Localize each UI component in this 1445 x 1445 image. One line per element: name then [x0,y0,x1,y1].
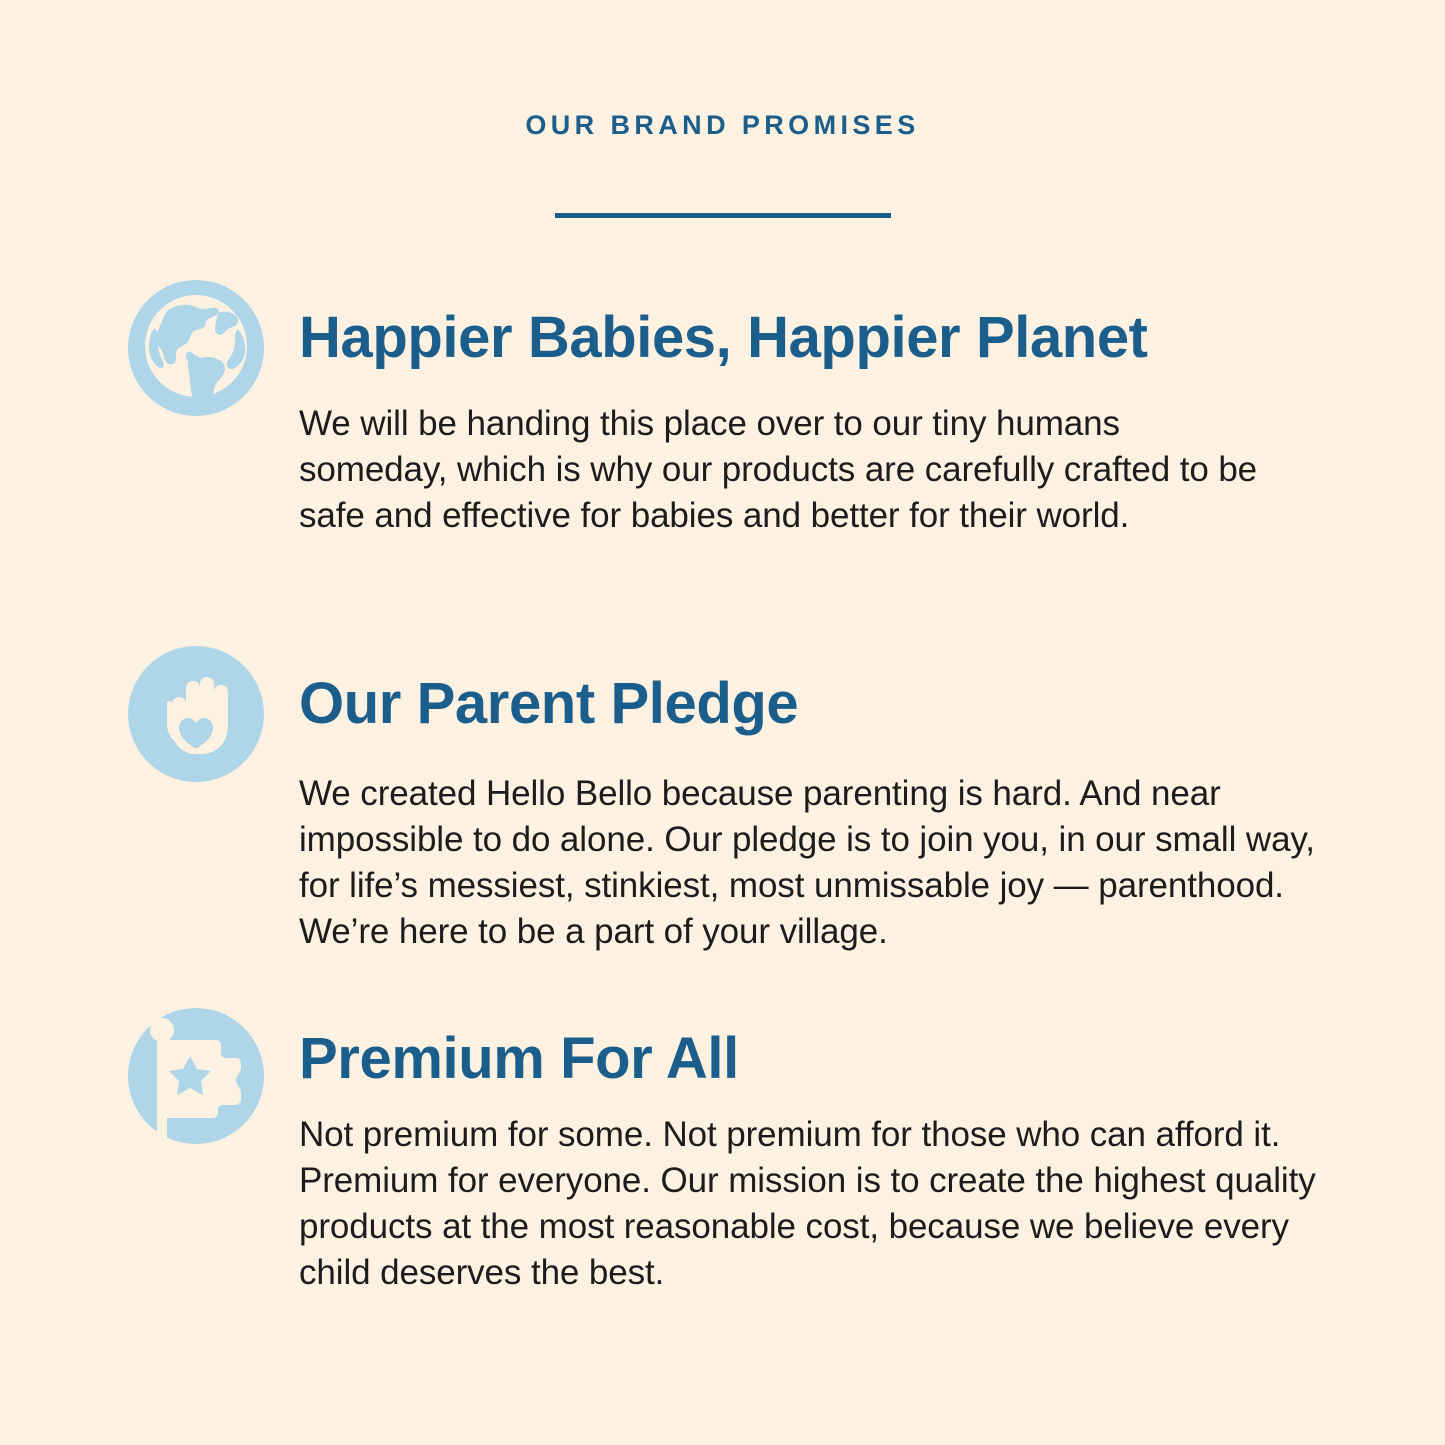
globe-icon [128,280,264,416]
header-divider [555,213,891,218]
promise-content: Happier Babies, Happier Planet We will b… [299,280,1329,539]
flag-star-icon [128,1008,264,1144]
promise-heading: Premium For All [299,1008,1329,1088]
page-header: OUR BRAND PROMISES [0,112,1445,139]
divider-container [0,205,1445,223]
brand-promises-page: OUR BRAND PROMISES [0,0,1445,1445]
promise-content: Premium For All Not premium for some. No… [299,1008,1329,1296]
page-title: OUR BRAND PROMISES [0,112,1445,139]
promise-description: Not premium for some. Not premium for th… [299,1088,1321,1296]
promise-heading: Our Parent Pledge [299,646,1329,733]
promise-content: Our Parent Pledge We created Hello Bello… [299,646,1329,955]
promise-description: We will be handing this place over to ou… [299,367,1265,539]
promise-description: We created Hello Bello because parenting… [299,733,1329,955]
promise-heading: Happier Babies, Happier Planet [299,280,1329,367]
hand-heart-icon [128,646,264,782]
